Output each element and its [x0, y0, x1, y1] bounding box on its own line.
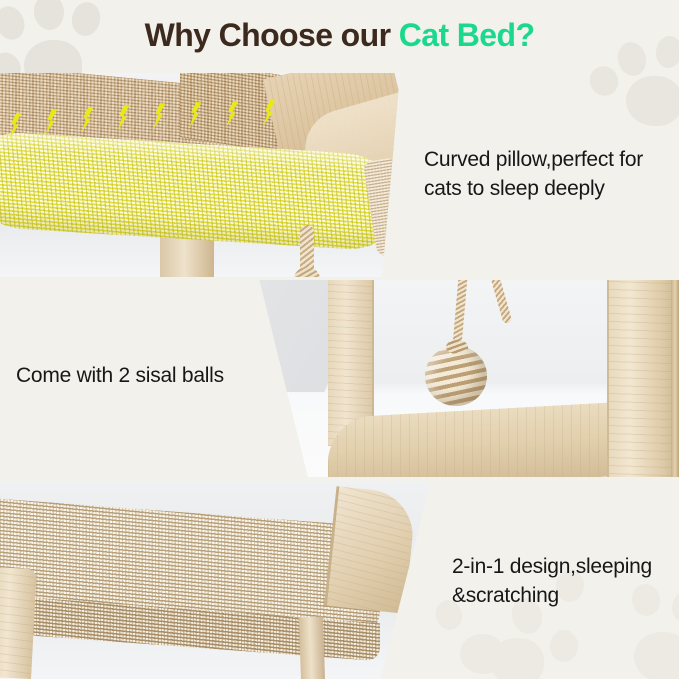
feature-caption-curved-pillow: Curved pillow,perfect for cats to sleep … [424, 146, 674, 203]
paw-print-icon [436, 600, 506, 670]
wood-frame-edge [671, 280, 679, 477]
header: Why Choose our Cat Bed? [0, 0, 679, 73]
wood-frame-arm-left [0, 567, 37, 679]
sisal-ball [425, 346, 487, 406]
feature-photo-curved-pillow [0, 73, 400, 277]
feature-caption-two-in-one: 2-in-1 design,sleeping &scratching [452, 553, 676, 610]
feature-photo-two-in-one [0, 482, 435, 679]
wood-frame-post-right [607, 280, 679, 477]
page-title: Why Choose our Cat Bed? [145, 19, 535, 55]
feature-caption-sisal-balls: Come with 2 sisal balls [16, 362, 252, 391]
infographic-canvas: Why Choose our Cat Bed? Curved pillow,pe… [0, 0, 679, 679]
sisal-ball-knot [446, 340, 468, 354]
feature-photo-sisal-balls [250, 280, 679, 477]
page-title-primary: Why Choose our [145, 17, 399, 53]
page-title-accent: Cat Bed? [399, 17, 535, 53]
wood-frame-leg [299, 617, 325, 679]
